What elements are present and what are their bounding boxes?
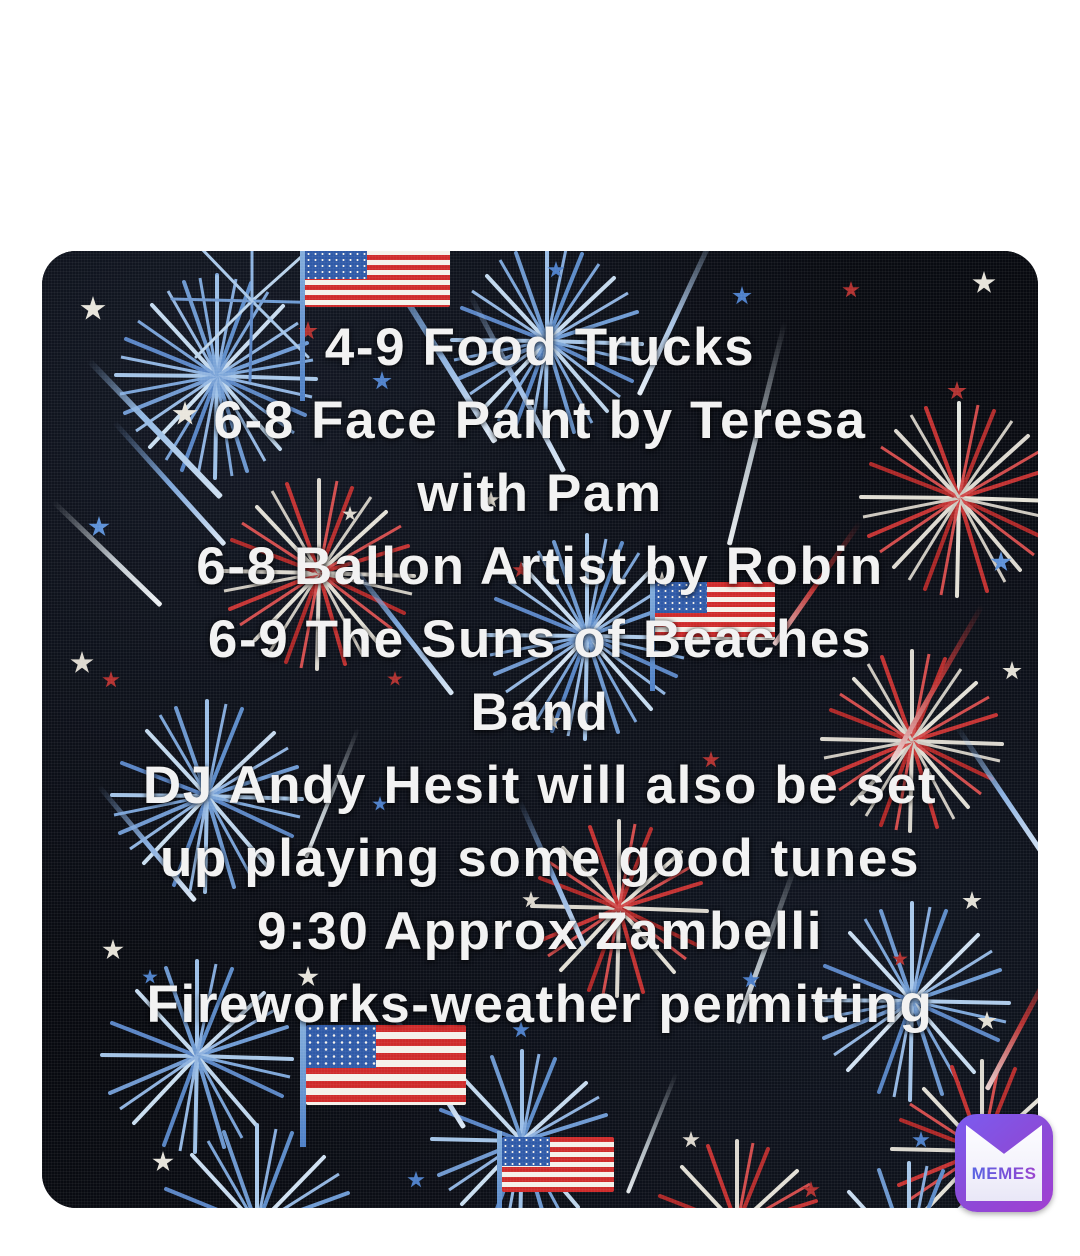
caption-line-5: 6-9 The Suns of Beaches [52,603,1028,676]
caption-line-9: 9:30 Approx Zambelli [52,895,1028,968]
caption-line-1: 4-9 Food Trucks [52,311,1028,384]
envelope-icon [966,1125,1042,1201]
caption-line-8: up playing some good tunes [52,822,1028,895]
memes-watermark-logo[interactable]: MEMES [955,1114,1053,1212]
caption-line-2: 6-8 Face Paint by Teresa [52,384,1028,457]
caption-line-4: 6-8 Ballon Artist by Robin [52,530,1028,603]
caption-line-3: with Pam [52,457,1028,530]
meme-image-panel: 4-9 Food Trucks 6-8 Face Paint by Teresa… [42,251,1038,1208]
caption-line-7: DJ Andy Hesit will also be set [52,749,1028,822]
meme-caption-text: 4-9 Food Trucks 6-8 Face Paint by Teresa… [42,311,1038,1041]
caption-line-6: Band [52,676,1028,749]
caption-line-10: Fireworks-weather permitting [52,968,1028,1041]
memes-watermark-label: MEMES [955,1164,1053,1184]
